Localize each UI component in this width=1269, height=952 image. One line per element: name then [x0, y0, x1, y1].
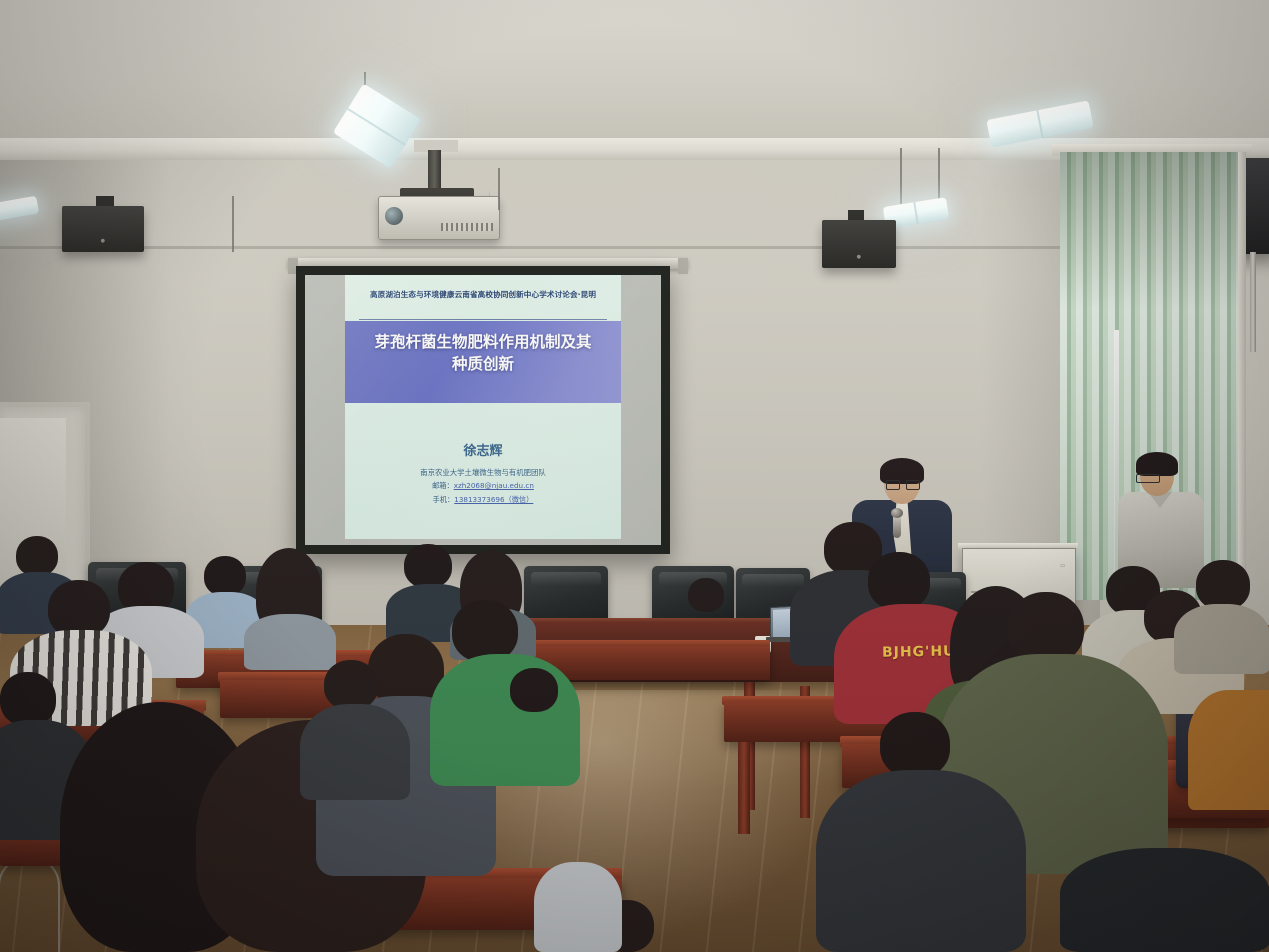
door-arch-detail: [0, 856, 60, 952]
email-label: 邮箱：: [432, 481, 454, 490]
window-frame-right: [1238, 152, 1246, 600]
email-value[interactable]: xzh2068@njau.edu.cn: [454, 481, 534, 490]
ceiling-projector: [378, 196, 500, 240]
wall-speaker-left: ●: [62, 206, 144, 252]
microphone-head-icon: [891, 508, 903, 518]
light-hanger-wire: [938, 148, 940, 204]
cabinet-label: ▭: [1060, 563, 1065, 569]
slide-phone-line: 手机：13813373696（微信）: [345, 495, 621, 505]
speaker-brand-mark: ●: [857, 254, 862, 260]
roller-end-cap-right: [678, 258, 688, 274]
glasses-icon: [1136, 474, 1160, 483]
projector-vent: [441, 223, 493, 231]
projector-lens-icon: [385, 207, 403, 225]
light-hanger-wire: [900, 148, 902, 204]
lecture-hall-photo: ● ● 高原湖泊生态与环境健康云南省高校协同创新中心学术讨论会·昆明 芽孢杆菌生…: [0, 0, 1269, 952]
wall-speaker-center: ●: [822, 220, 896, 268]
slide-header-area: 高原湖泊生态与环境健康云南省高校协同创新中心学术讨论会·昆明: [345, 275, 621, 321]
slide-author-name: 徐志辉: [345, 440, 621, 459]
speaker-brand-mark: ●: [101, 238, 106, 244]
glasses-icon: [886, 480, 918, 488]
phone-label: 手机：: [433, 495, 455, 504]
slide-header-text: 高原湖泊生态与环境健康云南省高校协同创新中心学术讨论会·昆明: [345, 289, 621, 300]
speaker-support-pole: [1250, 252, 1256, 352]
slide-title-line-1: 芽孢杆菌生物肥料作用机制及其: [355, 331, 611, 353]
slide-email-line: 邮箱：xzh2068@njau.edu.cn: [345, 481, 621, 491]
attendee-hair: [1136, 452, 1178, 476]
projector-guy-wire: [232, 196, 234, 252]
presentation-slide: 高原湖泊生态与环境健康云南省高校协同创新中心学术讨论会·昆明 芽孢杆菌生物肥料作…: [345, 275, 621, 539]
projector-guy-wire: [498, 168, 500, 210]
slide-affiliation: 南京农业大学土壤微生物与有机肥团队: [345, 467, 621, 478]
slide-divider-rule: [359, 319, 607, 320]
slide-title-line-2: 种质创新: [355, 353, 611, 375]
slide-body-area: 徐志辉 南京农业大学土壤微生物与有机肥团队 邮箱：xzh2068@njau.ed…: [345, 403, 621, 539]
phone-value[interactable]: 13813373696（微信）: [454, 495, 533, 504]
bench-leg: [738, 742, 750, 834]
slide-title: 芽孢杆菌生物肥料作用机制及其 种质创新: [355, 331, 611, 376]
